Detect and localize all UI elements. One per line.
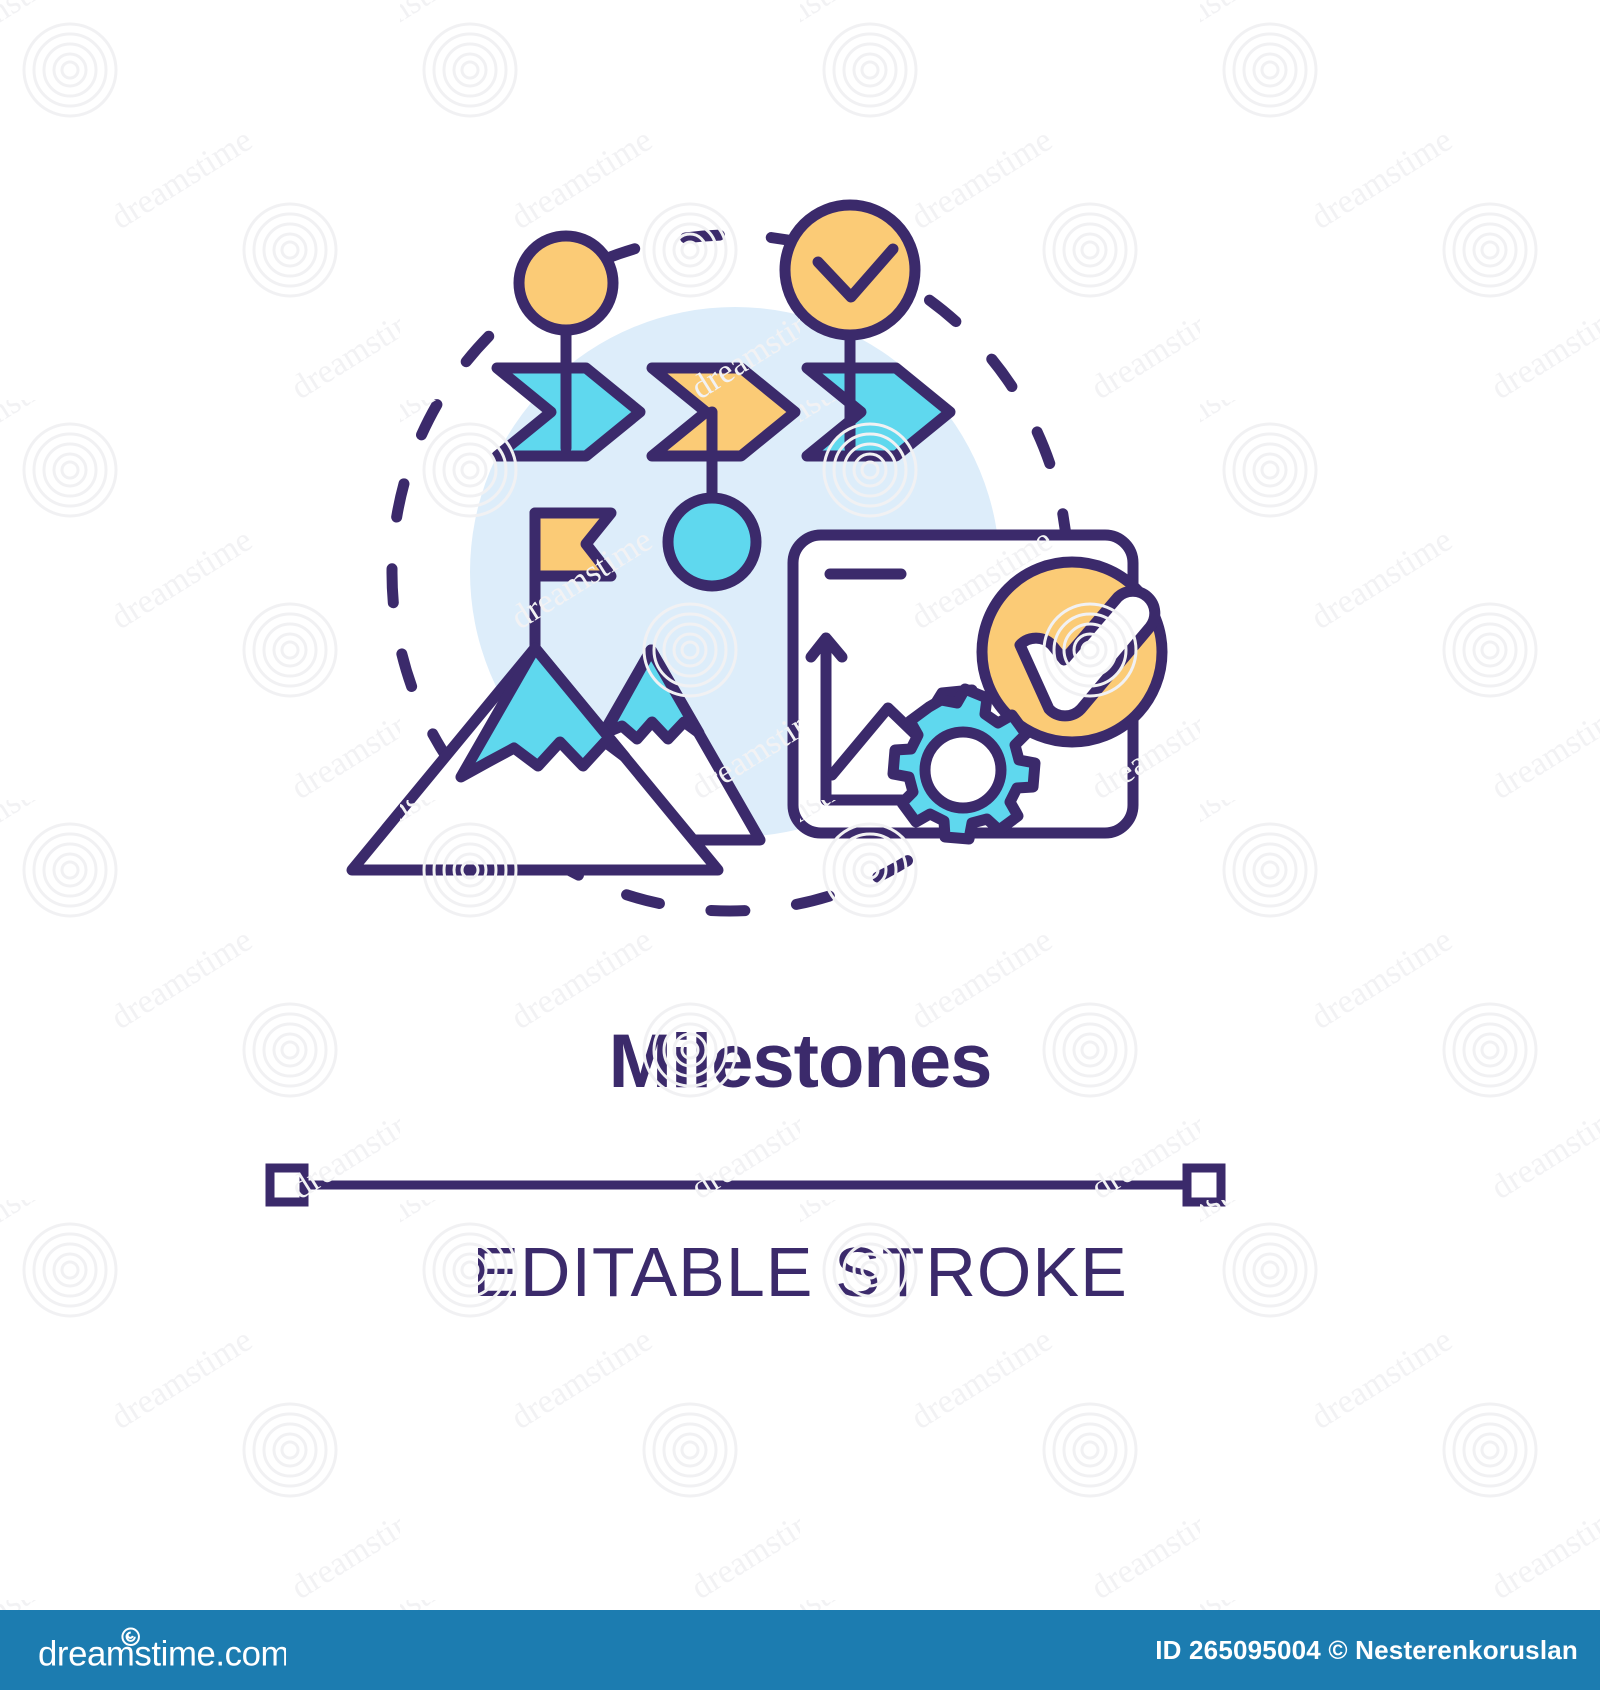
page-title: Milestones — [0, 1018, 1600, 1105]
svg-text:dreamstime.com: dreamstime.com — [38, 1636, 286, 1674]
pin-circle-cyan — [668, 498, 756, 586]
stroke-rule-left-handle[interactable] — [270, 1168, 304, 1202]
editable-stroke-rule — [0, 1140, 1600, 1230]
milestones-illustration — [0, 0, 1600, 1000]
image-credit: ID 265095004 © Nesterenkoruslan — [1155, 1610, 1578, 1690]
stroke-rule-right-handle[interactable] — [1187, 1168, 1221, 1202]
gear-icon — [893, 689, 1035, 839]
pin-circle-plain — [519, 236, 613, 330]
pin-circle-check — [785, 205, 915, 335]
dreamstime-logo[interactable]: dreamstime.com — [38, 1626, 286, 1674]
footer-bar: dreamstime.com ID 265095004 © Nesterenko… — [0, 1610, 1600, 1690]
editable-stroke-label: EDITABLE STROKE — [0, 1232, 1600, 1312]
